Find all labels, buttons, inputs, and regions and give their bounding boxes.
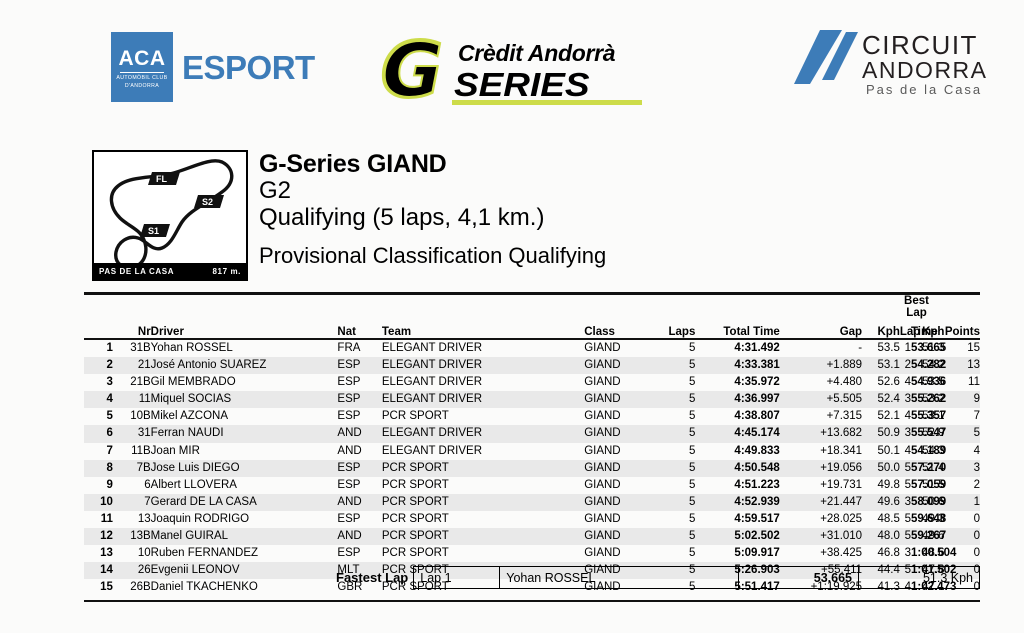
cell-driver: Joan MIR	[151, 443, 338, 460]
table-row: 107Gerard DE LA CASAANDPCR SPORTGIAND54:…	[84, 494, 980, 511]
results-table-container: Best Lap Nr Driver Nat Team Class Laps T…	[84, 292, 980, 596]
credit-andorra-text: Crèdit Andorrà	[458, 40, 615, 67]
aca-subtitle-line1: AUTOMÒBIL CLUB	[116, 75, 167, 83]
cell-nat: AND	[337, 425, 381, 442]
cell-laps: 5	[653, 460, 695, 477]
cell-btime: 53.665	[911, 340, 922, 357]
cell-total: 4:52.939	[695, 494, 779, 511]
cell-nat: AND	[337, 494, 381, 511]
table-row: 1310Ruben FERNANDEZESPPCR SPORTGIAND55:0…	[84, 545, 980, 562]
table-row: 1113Joaquin RODRIGOESPPCR SPORTGIAND54:5…	[84, 511, 980, 528]
cell-laps: 5	[653, 528, 695, 545]
col-header-nr: Nr	[113, 319, 151, 338]
cell-class: GIAND	[584, 374, 653, 391]
cell-nat: ESP	[337, 511, 381, 528]
cell-laps: 5	[653, 477, 695, 494]
cell-pos: 11	[84, 511, 113, 528]
cell-team: PCR SPORT	[382, 528, 584, 545]
cell-nat: ESP	[337, 374, 381, 391]
cell-bkph: 49.6	[922, 528, 933, 545]
cell-bkph: 49.3	[922, 511, 933, 528]
col-header-class: Class	[584, 319, 653, 338]
cell-team: PCR SPORT	[382, 511, 584, 528]
cell-class: GIAND	[584, 511, 653, 528]
cell-team: ELEGANT DRIVER	[382, 425, 584, 442]
cell-bkph: 54.2	[922, 357, 933, 374]
table-bottom-rule	[84, 600, 980, 602]
track-venue-label: PAS DE LA CASA	[99, 267, 174, 276]
cell-nat: FRA	[337, 340, 381, 357]
cell-nr: 31	[113, 425, 151, 442]
cell-kph: 48.5	[862, 511, 900, 528]
cell-laps: 5	[653, 340, 695, 357]
cell-pos: 3	[84, 374, 113, 391]
cell-driver: Gerard DE LA CASA	[151, 494, 338, 511]
cell-nr: 11B	[113, 443, 151, 460]
cell-team: ELEGANT DRIVER	[382, 391, 584, 408]
cell-nr: 6	[113, 477, 151, 494]
cell-kph: 48.0	[862, 528, 900, 545]
cell-nr: 10B	[113, 408, 151, 425]
table-row: 87BJose Luis DIEGOESPPCR SPORTGIAND54:50…	[84, 460, 980, 477]
cell-team: ELEGANT DRIVER	[382, 374, 584, 391]
gseries-g-letter: G	[382, 34, 439, 108]
cell-pos: 6	[84, 425, 113, 442]
cell-nr: 7B	[113, 460, 151, 477]
col-header-team: Team	[382, 319, 584, 338]
cell-blap: 3	[900, 494, 911, 511]
cell-gap: -	[780, 340, 862, 357]
circuit-andorra-logo: CIRCUIT ANDORRA Pas de la Casa	[790, 24, 1005, 104]
cell-driver: José Antonio SUAREZ	[151, 357, 338, 374]
cell-laps: 5	[653, 408, 695, 425]
table-row: 131BYohan ROSSELFRAELEGANT DRIVERGIAND54…	[84, 340, 980, 357]
cell-class: GIAND	[584, 391, 653, 408]
col-header-best-time: Time	[911, 319, 922, 338]
col-header-pos	[84, 319, 113, 338]
cell-kph: 50.0	[862, 460, 900, 477]
cell-btime: 59.267	[911, 528, 922, 545]
cell-pos: 5	[84, 408, 113, 425]
cell-laps: 5	[653, 391, 695, 408]
cell-total: 4:45.174	[695, 425, 779, 442]
cell-laps: 5	[653, 443, 695, 460]
cell-nr: 10	[113, 545, 151, 562]
aca-acronym: ACA	[119, 48, 166, 69]
cell-nr: 21	[113, 357, 151, 374]
cell-bkph: 53.2	[922, 391, 933, 408]
col-header-gap: Gap	[780, 319, 862, 338]
session-titles: G-Series GIAND G2 Qualifying (5 laps, 4,…	[259, 150, 606, 268]
cell-total: 4:51.223	[695, 477, 779, 494]
track-map-footer: PAS DE LA CASA 817 m.	[94, 263, 246, 279]
cell-nat: AND	[337, 528, 381, 545]
fastest-lap-cells: Lap 1 Yohan ROSSEL 53.665 51.3 Kph	[413, 566, 980, 589]
cell-total: 4:59.517	[695, 511, 779, 528]
col-header-total-time: Total Time	[695, 319, 779, 338]
table-row: 411Miquel SOCIASESPELEGANT DRIVERGIAND54…	[84, 391, 980, 408]
track-length-label: 817 m.	[212, 267, 241, 276]
table-group-header-row: Best Lap	[84, 295, 980, 319]
cell-blap: 1	[900, 340, 911, 357]
cell-total: 4:36.997	[695, 391, 779, 408]
cell-blap: 2	[900, 357, 911, 374]
cell-total: 5:09.917	[695, 545, 779, 562]
cell-laps: 5	[653, 494, 695, 511]
cell-kph: 50.1	[862, 443, 900, 460]
cell-laps: 5	[653, 425, 695, 442]
cell-driver: Evgenii LEONOV	[151, 562, 338, 579]
cell-nat: ESP	[337, 391, 381, 408]
fastest-lap-time: 53.665	[739, 567, 859, 588]
table-row: 96Albert LLOVERAESPPCR SPORTGIAND54:51.2…	[84, 477, 980, 494]
aca-logo-badge: ACA AUTOMÒBIL CLUB D'ANDORRA	[111, 32, 173, 102]
cell-blap: 5	[900, 528, 911, 545]
cell-nr: 26	[113, 562, 151, 579]
cell-btime: 55.262	[911, 391, 922, 408]
aca-divider	[120, 72, 164, 73]
cell-pos: 12	[84, 528, 113, 545]
aca-subtitle-line2: D'ANDORRA	[125, 83, 159, 91]
svg-text:FL: FL	[156, 174, 167, 184]
cell-total: 4:33.381	[695, 357, 779, 374]
cell-btime: 58.099	[911, 494, 922, 511]
svg-text:S2: S2	[202, 197, 213, 207]
cell-btime: 1:00.504	[911, 545, 922, 562]
cell-class: GIAND	[584, 494, 653, 511]
cell-gap: +1.889	[780, 357, 862, 374]
cell-gap: +5.505	[780, 391, 862, 408]
event-class: G2	[259, 178, 606, 205]
cell-blap: 4	[900, 374, 911, 391]
cell-kph: 52.1	[862, 408, 900, 425]
table-row: 1213BManel GUIRALANDPCR SPORTGIAND55:02.…	[84, 528, 980, 545]
best-lap-group-label: Best Lap	[900, 295, 933, 319]
cell-nr: 7	[113, 494, 151, 511]
cell-bkph: 51.4	[922, 460, 933, 477]
cell-btime: 55.357	[911, 408, 922, 425]
cell-nat: ESP	[337, 545, 381, 562]
cell-blap: 3	[900, 425, 911, 442]
table-row: 711BJoan MIRANDELEGANT DRIVERGIAND54:49.…	[84, 443, 980, 460]
circuit-chevron-icon	[790, 28, 860, 90]
table-row: 221José Antonio SUAREZESPELEGANT DRIVERG…	[84, 357, 980, 374]
cell-class: GIAND	[584, 460, 653, 477]
table-row: 321BGil MEMBRADOESPELEGANT DRIVERGIAND54…	[84, 374, 980, 391]
cell-nat: ESP	[337, 460, 381, 477]
cell-kph: 53.5	[862, 340, 900, 357]
col-header-driver: Driver	[151, 319, 338, 338]
cell-gap: +21.447	[780, 494, 862, 511]
col-header-laps: Laps	[653, 319, 695, 338]
cell-class: GIAND	[584, 425, 653, 442]
cell-bkph: 51.3	[922, 340, 933, 357]
cell-bkph: 53.5	[922, 374, 933, 391]
cell-total: 4:35.972	[695, 374, 779, 391]
cell-bkph: 51.5	[922, 477, 933, 494]
cell-blap: 4	[900, 408, 911, 425]
cell-blap: 4	[900, 443, 911, 460]
cell-total: 4:50.548	[695, 460, 779, 477]
cell-class: GIAND	[584, 545, 653, 562]
cell-bkph: 54.3	[922, 443, 933, 460]
col-header-nat: Nat	[337, 319, 381, 338]
cell-driver: Miquel SOCIAS	[151, 391, 338, 408]
cell-laps: 5	[653, 374, 695, 391]
cell-class: GIAND	[584, 357, 653, 374]
cell-bkph: 48.6	[922, 545, 933, 562]
logo-bar: ACA AUTOMÒBIL CLUB D'ANDORRA ESPORT G G …	[0, 0, 1024, 122]
svg-text:S1: S1	[148, 226, 159, 236]
table-header-row: Nr Driver Nat Team Class Laps Total Time…	[84, 319, 980, 338]
col-header-best-kph: Kph	[922, 319, 933, 338]
event-title: G-Series GIAND	[259, 150, 606, 178]
cell-btime: 54.189	[911, 443, 922, 460]
cell-driver: Yohan ROSSEL	[151, 340, 338, 357]
cell-kph: 52.4	[862, 391, 900, 408]
cell-nr: 11	[113, 391, 151, 408]
cell-team: ELEGANT DRIVER	[382, 340, 584, 357]
aca-esport-logo: ACA AUTOMÒBIL CLUB D'ANDORRA ESPORT	[111, 32, 315, 102]
cell-team: PCR SPORT	[382, 460, 584, 477]
cell-total: 4:31.492	[695, 340, 779, 357]
track-layout-icon: FL S2 S1	[94, 152, 246, 279]
cell-team: PCR SPORT	[382, 545, 584, 562]
cell-bkph: 52.9	[922, 425, 933, 442]
series-wordmark: SERIES	[454, 66, 590, 104]
cell-nr: 13B	[113, 528, 151, 545]
cell-team: ELEGANT DRIVER	[382, 357, 584, 374]
results-page: ACA AUTOMÒBIL CLUB D'ANDORRA ESPORT G G …	[0, 0, 1024, 633]
cell-gap: +19.731	[780, 477, 862, 494]
cell-team: ELEGANT DRIVER	[382, 443, 584, 460]
title-block: FL S2 S1 PAS DE LA CASA 817 m. G-Series …	[92, 150, 712, 290]
cell-blap: 3	[900, 545, 911, 562]
cell-gap: +31.010	[780, 528, 862, 545]
cell-kph: 53.1	[862, 357, 900, 374]
cell-team: PCR SPORT	[382, 494, 584, 511]
cell-gap: +19.056	[780, 460, 862, 477]
cell-blap: 3	[900, 391, 911, 408]
esport-wordmark: ESPORT	[182, 51, 315, 84]
cell-blap: 5	[900, 477, 911, 494]
cell-nat: ESP	[337, 477, 381, 494]
cell-pos: 2	[84, 357, 113, 374]
sector-marker-s1: S1	[140, 224, 170, 237]
cell-gap: +7.315	[780, 408, 862, 425]
cell-kph: 46.8	[862, 545, 900, 562]
cell-pos: 9	[84, 477, 113, 494]
cell-nr: 21B	[113, 374, 151, 391]
cell-laps: 5	[653, 357, 695, 374]
cell-pos: 13	[84, 545, 113, 562]
sector-marker-fl: FL	[148, 172, 180, 185]
cell-btime: 54.936	[911, 374, 922, 391]
cell-pos: 15	[84, 579, 113, 596]
cell-driver: Ruben FERNANDEZ	[151, 545, 338, 562]
col-header-best-lap: Lap	[900, 319, 911, 338]
cell-btime: 59.648	[911, 511, 922, 528]
fastest-lap-driver: Yohan ROSSEL	[500, 567, 739, 588]
cell-driver: Ferran NAUDI	[151, 425, 338, 442]
table-row: 510BMikel AZCONAESPPCR SPORTGIAND54:38.8…	[84, 408, 980, 425]
cell-pos: 8	[84, 460, 113, 477]
cell-nr: 13	[113, 511, 151, 528]
cell-btime: 54.282	[911, 357, 922, 374]
col-header-kph: Kph	[862, 319, 900, 338]
cell-nat: AND	[337, 443, 381, 460]
session-description: Qualifying (5 laps, 4,1 km.)	[259, 205, 606, 232]
cell-btime: 57.270	[911, 460, 922, 477]
cell-driver: Daniel TKACHENKO	[151, 579, 338, 596]
cell-nr: 26B	[113, 579, 151, 596]
cell-gap: +13.682	[780, 425, 862, 442]
cell-driver: Mikel AZCONA	[151, 408, 338, 425]
track-map: FL S2 S1 PAS DE LA CASA 817 m.	[92, 150, 248, 281]
cell-kph: 52.6	[862, 374, 900, 391]
cell-driver: Joaquin RODRIGO	[151, 511, 338, 528]
cell-kph: 49.6	[862, 494, 900, 511]
classification-status: Provisional Classification Qualifying	[259, 244, 606, 268]
cell-class: GIAND	[584, 340, 653, 357]
cell-blap: 5	[900, 511, 911, 528]
cell-total: 4:49.833	[695, 443, 779, 460]
cell-class: GIAND	[584, 528, 653, 545]
cell-gap: +28.025	[780, 511, 862, 528]
cell-class: GIAND	[584, 408, 653, 425]
cell-blap: 5	[900, 460, 911, 477]
cell-total: 4:38.807	[695, 408, 779, 425]
cell-pos: 10	[84, 494, 113, 511]
cell-bkph: 53.1	[922, 408, 933, 425]
cell-pos: 4	[84, 391, 113, 408]
results-rows: 131BYohan ROSSELFRAELEGANT DRIVERGIAND54…	[84, 340, 980, 596]
cell-btime: 55.547	[911, 425, 922, 442]
sector-marker-s2: S2	[194, 195, 224, 208]
cell-team: PCR SPORT	[382, 477, 584, 494]
results-table: Best Lap Nr Driver Nat Team Class Laps T…	[84, 295, 980, 596]
cell-kph: 50.9	[862, 425, 900, 442]
cell-team: PCR SPORT	[382, 408, 584, 425]
cell-gap: +4.480	[780, 374, 862, 391]
cell-pos: 1	[84, 340, 113, 357]
cell-driver: Jose Luis DIEGO	[151, 460, 338, 477]
gseries-logo: G G Crèdit Andorrà SERIES	[382, 24, 652, 104]
cell-pos: 7	[84, 443, 113, 460]
cell-class: GIAND	[584, 443, 653, 460]
cell-gap: +18.341	[780, 443, 862, 460]
cell-nat: ESP	[337, 357, 381, 374]
cell-driver: Gil MEMBRADO	[151, 374, 338, 391]
cell-class: GIAND	[584, 477, 653, 494]
cell-pos: 14	[84, 562, 113, 579]
cell-bkph: 50.6	[922, 494, 933, 511]
fastest-lap-kph: 51.3 Kph	[859, 567, 979, 588]
cell-btime: 57.059	[911, 477, 922, 494]
cell-nat: ESP	[337, 408, 381, 425]
fastest-lap-label: Fastest Lap	[336, 566, 413, 589]
cell-driver: Albert LLOVERA	[151, 477, 338, 494]
cell-kph: 49.8	[862, 477, 900, 494]
circuit-subtitle: ANDORRA	[862, 57, 988, 84]
cell-nr: 31B	[113, 340, 151, 357]
cell-total: 5:02.502	[695, 528, 779, 545]
fastest-lap-number: Lap 1	[414, 567, 500, 588]
cell-laps: 5	[653, 511, 695, 528]
circuit-location: Pas de la Casa	[866, 82, 982, 97]
cell-driver: Manel GUIRAL	[151, 528, 338, 545]
table-row: 631Ferran NAUDIANDELEGANT DRIVERGIAND54:…	[84, 425, 980, 442]
fastest-lap-panel: Fastest Lap Lap 1 Yohan ROSSEL 53.665 51…	[336, 566, 980, 589]
cell-laps: 5	[653, 545, 695, 562]
cell-gap: +38.425	[780, 545, 862, 562]
